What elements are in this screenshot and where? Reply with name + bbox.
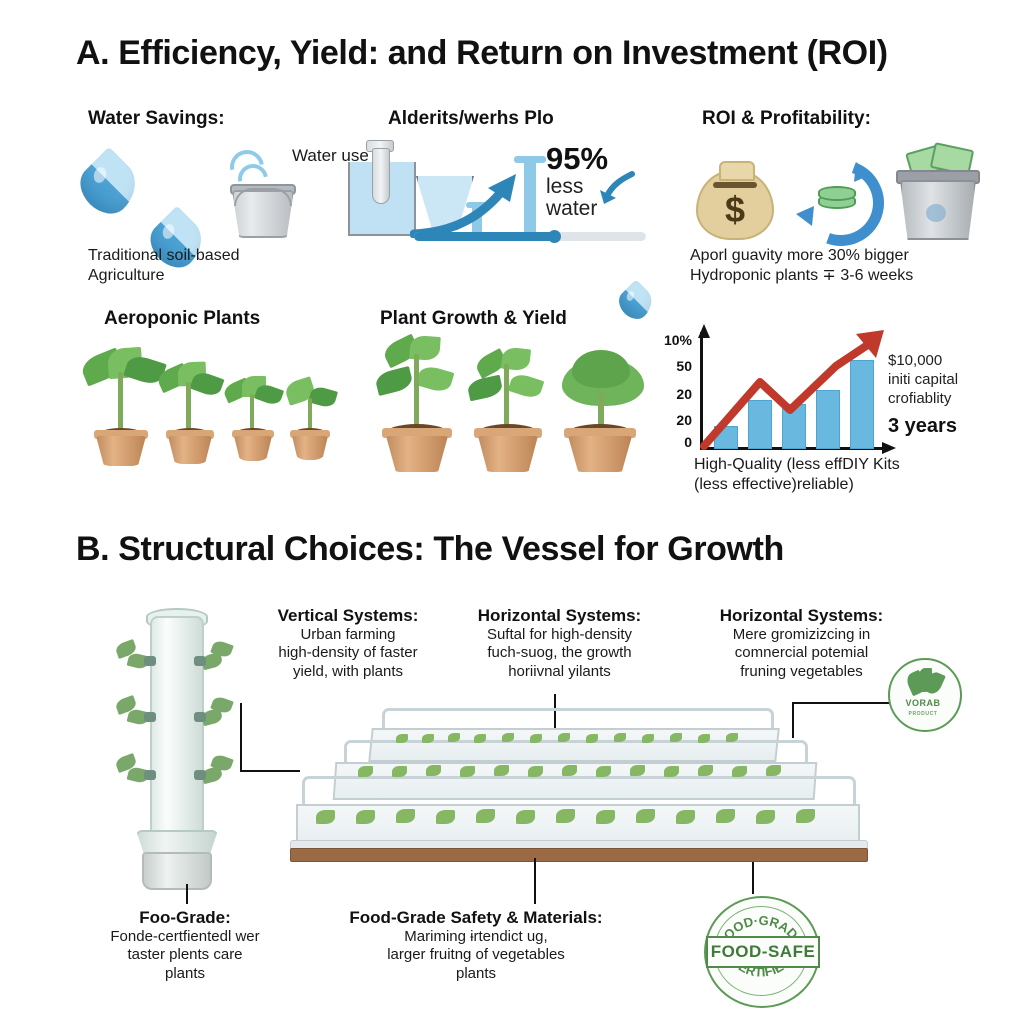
section-a-title: A. Efficiency, Yield: and Return on Inve… [76, 34, 888, 73]
vertical-tower-system [110, 598, 240, 888]
annotation-vertical-systems: Vertical Systems: Urban farming high-den… [248, 606, 448, 681]
annotation-title: Horizontal Systems: [694, 606, 909, 626]
roi-bar-chart: 10% 50 20 20 0 [660, 330, 900, 460]
leader-line [240, 703, 242, 771]
leader-line [534, 858, 536, 904]
vorab-leaf-badge: VORAB PRODUCT [888, 658, 962, 732]
annotation-line-2: fuch-suog, the growth [452, 644, 667, 662]
column-heading-roi: ROI & Profitability: [702, 108, 871, 130]
curved-arrow-icon [598, 168, 638, 208]
caption-line-1: Traditional soil-based [88, 246, 328, 266]
tower-plant [116, 638, 156, 678]
annotation-title: Food-Grade Safety & Materials: [306, 908, 646, 928]
annotation-title: Foo-Grade: [70, 908, 300, 928]
progress-knob [548, 230, 561, 243]
leader-line [186, 884, 188, 904]
tower-plant [194, 638, 236, 678]
roi-caption: Aporl guavity more 30% bigger Hydroponic… [690, 246, 980, 286]
column-heading-yield: Alderits/werhs Plo [388, 108, 554, 130]
horizontal-bed-system [296, 700, 876, 860]
annotation-line-1: Urban farming [248, 626, 448, 644]
chart-trend-arrow [660, 330, 900, 460]
side-note-highlight: 3 years [888, 414, 1018, 439]
annotation-line-2: taster plents care [70, 946, 300, 964]
badge-center-label: FOOD-SAFE [706, 936, 820, 968]
annotation-line-2: comnercial potemial [694, 644, 909, 662]
annotation-line-3: plants [306, 965, 646, 983]
annotation-horizontal-systems-2: Horizontal Systems: Mere gromizizcing in… [694, 606, 909, 681]
traditional-agriculture-caption: Traditional soil-based Agriculture [88, 246, 328, 286]
leader-line [752, 862, 754, 894]
annotation-line-1: Mere gromizizcing in [694, 626, 909, 644]
tower-plant [116, 752, 156, 792]
roi-caption-line-1: Aporl guavity more 30% bigger [690, 246, 980, 266]
money-bag-icon: $ [690, 152, 776, 238]
stat-line-1: less [546, 176, 597, 198]
bucket-icon [222, 150, 302, 230]
chart-caption-line-2: (less effective)reliable) [694, 475, 994, 495]
annotation-food-grade-safety: Food-Grade Safety & Materials: Mariming … [306, 908, 646, 983]
annotation-horizontal-systems-1: Horizontal Systems: Suftal for high-dens… [452, 606, 667, 681]
annotation-line-2: larger fruitng of vegetables [306, 946, 646, 964]
annotation-line-3: yield, with plants [248, 663, 448, 681]
chart-side-note: $10,000 initi capital crofiablity 3 year… [888, 352, 1018, 439]
chart-caption: High-Quality (less effDIY Kits (less eff… [694, 455, 994, 495]
growth-arrow-icon [410, 164, 550, 238]
caption-line-2: Agriculture [88, 266, 328, 286]
annotation-food-grade-left: Foo-Grade: Fonde-certfientedl wer taster… [70, 908, 300, 983]
riser-large-cap [514, 156, 546, 163]
leader-line [240, 770, 300, 772]
side-note-line-3: crofiablity [888, 390, 1018, 409]
stat-line-2: water [546, 198, 597, 220]
roi-caption-line-2: Hydroponic plants ∓ 3-6 weeks [690, 266, 980, 286]
infographic-canvas: A. Efficiency, Yield: and Return on Inve… [0, 0, 1024, 1024]
progress-fill [414, 232, 554, 241]
tower-reservoir [142, 852, 212, 890]
side-note-line-1: $10,000 [888, 352, 1018, 371]
tower-plant [194, 694, 236, 734]
food-safe-badge: FOOD·GRADE CERTIFIED FOOD-SAFE [700, 896, 822, 1008]
row2-heading-growth: Plant Growth & Yield [380, 308, 567, 330]
recycle-money-icon [790, 152, 880, 238]
stat-less-water: less water [546, 176, 597, 221]
water-drop-icon-1 [82, 158, 136, 212]
water-drop-icon-3 [620, 286, 652, 318]
recycle-symbol [926, 204, 946, 222]
plant-growth-group [368, 336, 648, 472]
chart-caption-line-1: High-Quality (less effDIY Kits [694, 455, 994, 475]
row2-heading-aeroponic: Aeroponic Plants [104, 308, 260, 330]
badge-label: VORAB [888, 698, 958, 708]
annotation-line-1: Fonde-certfientedl wer [70, 928, 300, 946]
annotation-line-3: fruning vegetables [694, 663, 909, 681]
tower-plant [194, 752, 236, 792]
annotation-line-1: Suftal for high-density [452, 626, 667, 644]
annotation-title: Vertical Systems: [248, 606, 448, 626]
annotation-line-2: high-density of faster [248, 644, 448, 662]
aeroponic-plant-group [78, 348, 358, 468]
annotation-line-3: horiivnal yilants [452, 663, 667, 681]
column-heading-water-savings: Water Savings: [88, 108, 225, 130]
test-tube-icon [372, 148, 390, 204]
annotation-title: Horizontal Systems: [452, 606, 667, 626]
annotation-line-3: plants [70, 965, 300, 983]
annotation-line-1: Mariming ɨrtendict ug, [306, 928, 646, 946]
tower-plant [116, 694, 156, 734]
bed-wood-base [290, 848, 868, 862]
section-b-title: B. Structural Choices: The Vessel for Gr… [76, 530, 784, 569]
badge-sublabel: PRODUCT [888, 711, 958, 717]
side-note-line-2: initi capital [888, 371, 1018, 390]
cash-bin-icon [892, 146, 982, 238]
